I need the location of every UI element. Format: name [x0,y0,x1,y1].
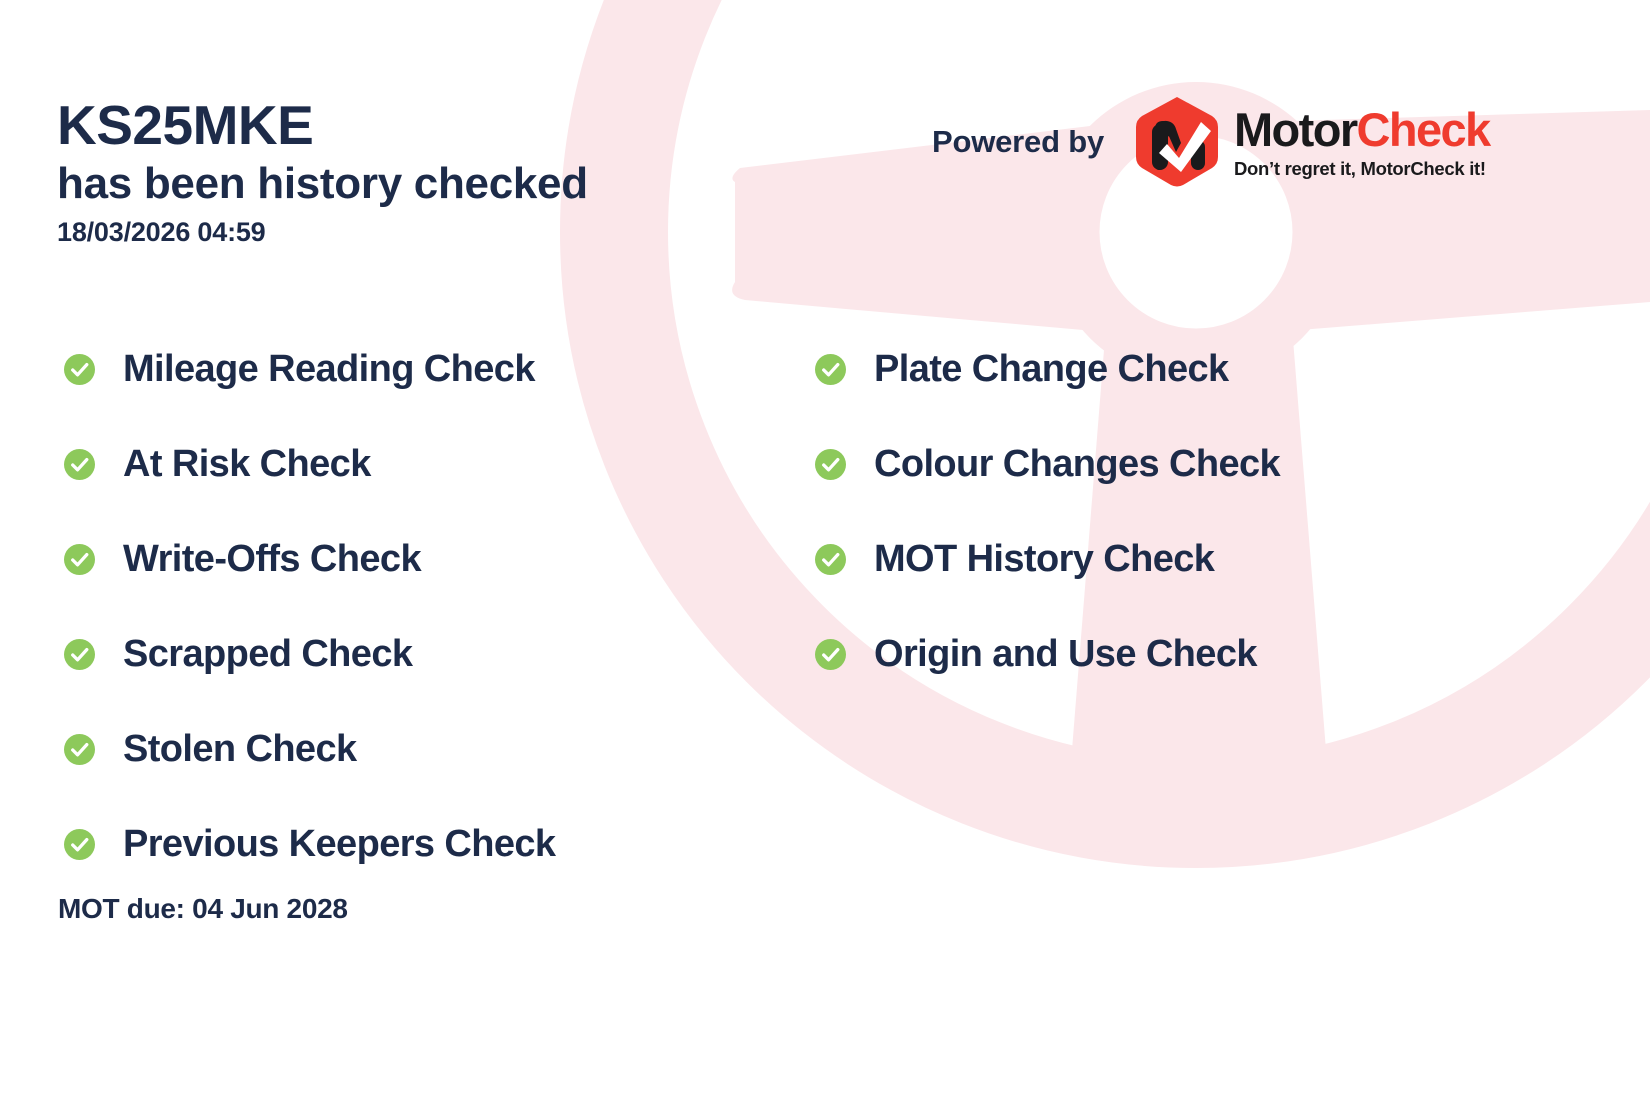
check-item-label: At Risk Check [123,443,371,486]
check-item-label: MOT History Check [874,538,1214,581]
powered-by-label: Powered by [932,124,1104,160]
check-item: Colour Changes Check [815,417,1280,512]
check-item: Plate Change Check [815,322,1280,417]
brand-wordmark: MotorCheck Don’t regret it, MotorCheck i… [1234,106,1490,179]
green-check-circle-icon [64,544,95,575]
page-subtitle: has been history checked [57,156,588,211]
check-item: Scrapped Check [64,607,555,702]
check-item: MOT History Check [815,512,1280,607]
check-item: Write-Offs Check [64,512,555,607]
check-item: At Risk Check [64,417,555,512]
green-check-circle-icon [64,734,95,765]
page-title-block: KS25MKE has been history checked 18/03/2… [57,96,588,248]
check-item-label: Stolen Check [123,728,357,771]
mot-due-text: MOT due: 04 Jun 2028 [58,893,348,925]
checks-column-left: Mileage Reading Check At Risk Check Writ… [64,322,555,892]
green-check-circle-icon [815,639,846,670]
green-check-circle-icon [815,354,846,385]
powered-by-brand: Powered by MotorCheck Don’t regret it, M… [932,98,1490,186]
green-check-circle-icon [64,354,95,385]
green-check-circle-icon [64,639,95,670]
check-item-label: Scrapped Check [123,633,412,676]
green-check-circle-icon [815,544,846,575]
check-item: Stolen Check [64,702,555,797]
green-check-circle-icon [815,449,846,480]
vehicle-registration: KS25MKE [57,96,588,154]
check-item-label: Mileage Reading Check [123,348,535,391]
brand-name: MotorCheck [1234,106,1490,153]
history-check-card: KS25MKE has been history checked 18/03/2… [0,0,1650,1100]
motorcheck-hexagon-icon [1134,96,1220,188]
check-item-label: Plate Change Check [874,348,1229,391]
green-check-circle-icon [64,829,95,860]
check-item: Previous Keepers Check [64,797,555,892]
check-item-label: Colour Changes Check [874,443,1280,486]
brand-tagline: Don’t regret it, MotorCheck it! [1234,160,1490,179]
check-timestamp: 18/03/2026 04:59 [57,217,588,248]
brand-name-motor: Motor [1234,103,1357,156]
green-check-circle-icon [64,449,95,480]
check-item: Mileage Reading Check [64,322,555,417]
check-item: Origin and Use Check [815,607,1280,702]
check-item-label: Previous Keepers Check [123,823,555,866]
check-item-label: Write-Offs Check [123,538,421,581]
check-item-label: Origin and Use Check [874,633,1257,676]
checks-column-right: Plate Change Check Colour Changes Check … [815,322,1280,702]
brand-name-check: Check [1357,103,1490,156]
